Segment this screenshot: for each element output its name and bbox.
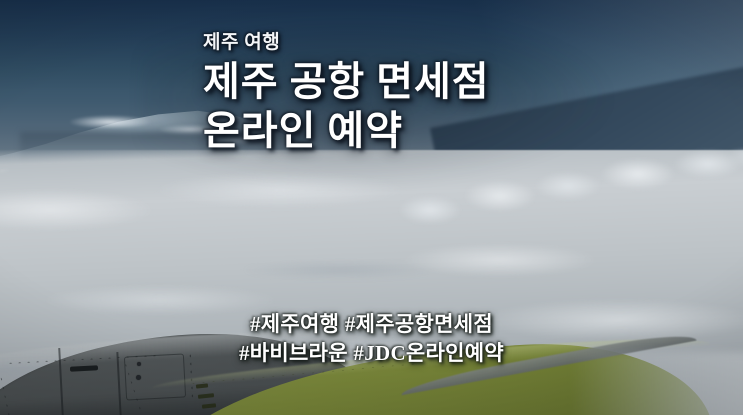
hashtag-line-2: #바비브라운 #JDC온라인예약 [0,339,743,368]
page-title-line-1: 제주 공항 면세점 [203,58,723,105]
cloud-top-edge [400,150,743,270]
page-title-line-2: 온라인 예약 [203,107,723,154]
wing-panel-mark [196,383,208,388]
sea-sun-glint [519,178,710,240]
cloud-texture [0,150,743,415]
hashtag-block: #제주여행 #제주공항면세점 #바비브라운 #JDC온라인예약 [0,310,743,368]
hashtag-line-1: #제주여행 #제주공항면세점 [0,310,743,339]
nacelle-rivet-row [124,360,159,415]
wing-panel-mark [202,403,216,408]
wing-panel-mark [198,393,214,399]
nacelle-shading [0,380,381,415]
eyebrow-text: 제주 여행 [203,30,723,56]
nacelle-rivet-row [0,374,29,415]
headline-block: 제주 여행 제주 공항 면세점 온라인 예약 [203,30,723,154]
hatch-bolt [136,375,141,380]
cloud-deck [0,150,743,415]
thumbnail-banner: 제주 여행 제주 공항 면세점 온라인 예약 #제주여행 #제주공항면세점 #바… [0,0,743,415]
